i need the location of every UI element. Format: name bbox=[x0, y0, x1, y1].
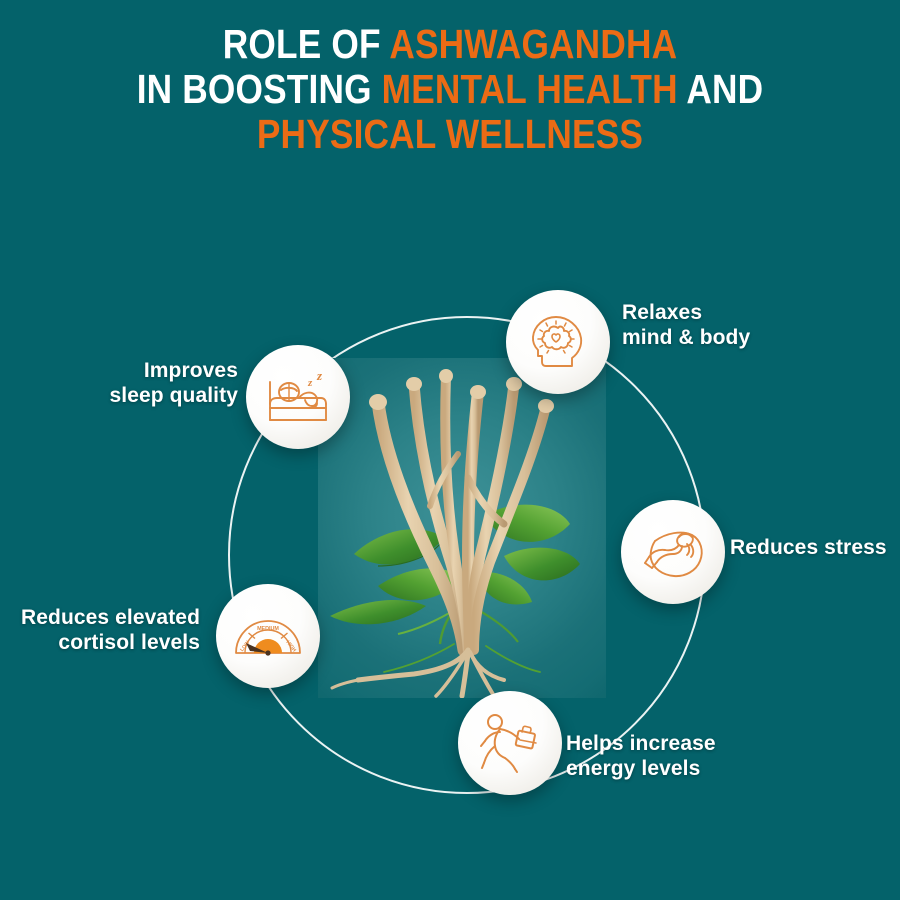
benefit-label-cortisol: Reduces elevated cortisol levels bbox=[0, 605, 200, 655]
running-person-briefcase-icon bbox=[476, 710, 544, 776]
title-line-1-white: ROLE OF bbox=[223, 21, 390, 67]
benefit-label-stress: Reduces stress bbox=[730, 535, 887, 560]
benefit-bubble-energy[interactable] bbox=[458, 691, 562, 795]
svg-text:z: z bbox=[316, 368, 323, 383]
benefit-label-relax: Relaxes mind & body bbox=[622, 300, 750, 350]
title-line-2-white-b: AND bbox=[678, 66, 764, 112]
benefit-label-energy: Helps increase energy levels bbox=[566, 731, 716, 781]
title-line-1: ROLE OF ASHWAGANDHA bbox=[63, 22, 837, 67]
gauge-meter-icon: MEDIUM LOW HIGH bbox=[232, 607, 304, 665]
benefit-bubble-cortisol[interactable]: MEDIUM LOW HIGH bbox=[216, 584, 320, 688]
head-brain-heart-icon bbox=[525, 309, 591, 375]
page-title: ROLE OF ASHWAGANDHA IN BOOSTING MENTAL H… bbox=[63, 22, 837, 157]
ashwagandha-root-photo bbox=[318, 358, 606, 698]
infographic-canvas: ROLE OF ASHWAGANDHA IN BOOSTING MENTAL H… bbox=[0, 0, 900, 900]
root-illustration bbox=[318, 358, 606, 698]
benefit-bubble-sleep[interactable]: z z bbox=[246, 345, 350, 449]
benefit-bubble-stress[interactable] bbox=[621, 500, 725, 604]
gauge-label-medium: MEDIUM bbox=[257, 626, 279, 632]
person-sleeping-in-bed-icon: z z bbox=[263, 364, 333, 430]
title-line-2-orange: MENTAL HEALTH bbox=[382, 66, 678, 112]
gauge-label-high: HIGH bbox=[285, 640, 298, 654]
benefit-label-sleep: Improves sleep quality bbox=[0, 358, 238, 408]
title-line-1-orange: ASHWAGANDHA bbox=[389, 21, 677, 67]
title-line-3-orange: PHYSICAL WELLNESS bbox=[257, 111, 643, 157]
person-reclining-icon bbox=[638, 521, 708, 583]
svg-text:z: z bbox=[307, 377, 313, 389]
benefit-bubble-relax[interactable] bbox=[506, 290, 610, 394]
title-line-3: PHYSICAL WELLNESS bbox=[63, 112, 837, 157]
title-line-2: IN BOOSTING MENTAL HEALTH AND bbox=[63, 67, 837, 112]
title-line-2-white-a: IN BOOSTING bbox=[137, 66, 382, 112]
